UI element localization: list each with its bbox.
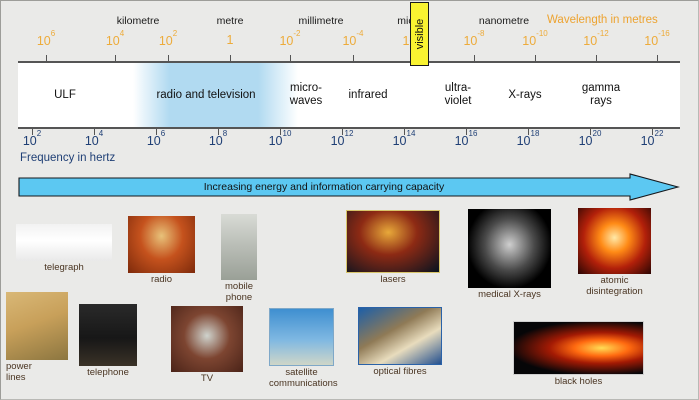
axis-tick-1 xyxy=(115,55,116,62)
wavelength-unit-kilometre: kilometre xyxy=(117,15,160,27)
frequency-tick-5: 1012 xyxy=(331,133,354,148)
figure-caption-lasers: lasers xyxy=(346,275,440,286)
spectrum-band-bar: ULFradio and televisionmicro- wavesinfra… xyxy=(18,62,680,128)
atomic-image xyxy=(578,208,651,274)
power-lines-image xyxy=(6,292,68,360)
wavelength-tick-10: 10-16 xyxy=(644,33,669,48)
frequency-tick-4: 1010 xyxy=(269,133,292,148)
figure-tv: TV xyxy=(171,306,243,385)
frequency-tick-6: 1014 xyxy=(393,133,416,148)
frequency-axis-title: Frequency in hertz xyxy=(20,152,115,164)
figure-telegraph: telegraph xyxy=(16,224,112,274)
wavelength-unit-metre: metre xyxy=(217,15,244,27)
wavelength-tick-1: 104 xyxy=(106,33,124,48)
lasers-image xyxy=(346,210,440,273)
figure-atomic-disintegration: atomic disintegration xyxy=(578,208,651,297)
mobile-phone-image xyxy=(221,214,257,280)
electromagnetic-spectrum-figure: kilometremetremillimetremicronnanometre … xyxy=(0,0,699,400)
energy-arrow: Increasing energy and information carryi… xyxy=(18,173,680,201)
figure-caption-telephone: telephone xyxy=(79,368,137,379)
figure-medical-x-rays: medical X-rays xyxy=(468,209,551,301)
wavelength-tick-7: 10-8 xyxy=(463,33,484,48)
figure-optical-fibres: optical fibres xyxy=(358,307,442,378)
black-hole-image xyxy=(513,321,644,375)
figure-caption-medical-x-rays: medical X-rays xyxy=(468,290,551,301)
wavelength-tick-5: 10-4 xyxy=(342,33,363,48)
band-label-ULF: ULF xyxy=(0,63,130,127)
wavelength-tick-8: 10-10 xyxy=(522,33,547,48)
frequency-tick-3: 108 xyxy=(209,133,227,148)
figure-caption-atomic-disintegration: atomic disintegration xyxy=(578,276,651,297)
telephone-image xyxy=(79,304,137,366)
wavelength-unit-nanometre: nanometre xyxy=(479,15,529,27)
wavelength-unit-millimetre: millimetre xyxy=(299,15,344,27)
wavelength-tick-3: 1 xyxy=(227,33,234,47)
energy-arrow-label: Increasing energy and information carryi… xyxy=(18,173,630,201)
figure-caption-mobile-phone: mobile phone xyxy=(221,282,257,303)
wavelength-tick-2: 102 xyxy=(159,33,177,48)
xray-image xyxy=(468,209,551,288)
figure-caption-tv: TV xyxy=(171,374,243,385)
axis-tick-3 xyxy=(230,55,231,62)
axis-tick-10 xyxy=(657,55,658,62)
axis-tick-4 xyxy=(290,55,291,62)
figure-mobile-phone: mobile phone xyxy=(221,214,257,303)
figure-black-holes: black holes xyxy=(513,321,644,388)
figure-lasers: lasers xyxy=(346,210,440,286)
figure-radio: radio xyxy=(128,216,195,286)
figure-satellite-communications: satellite communications xyxy=(269,308,334,389)
figure-power-lines: power lines xyxy=(6,292,68,383)
wavelength-tick-0: 106 xyxy=(37,33,55,48)
figure-caption-black-holes: black holes xyxy=(513,377,644,388)
frequency-tick-7: 1016 xyxy=(455,133,478,148)
radio-image xyxy=(128,216,195,273)
frequency-tick-2: 106 xyxy=(147,133,165,148)
figure-caption-optical-fibres: optical fibres xyxy=(358,367,442,378)
fibres-image xyxy=(358,307,442,365)
axis-tick-7 xyxy=(474,55,475,62)
frequency-tick-10: 1022 xyxy=(641,133,664,148)
axis-tick-5 xyxy=(353,55,354,62)
axis-tick-0 xyxy=(46,55,47,62)
figure-telephone: telephone xyxy=(79,304,137,379)
band-label-gamma-rays: gamma rays xyxy=(536,63,666,127)
figure-caption-telegraph: telegraph xyxy=(16,263,112,274)
figure-caption-power-lines: power lines xyxy=(6,362,68,383)
frequency-tick-9: 1020 xyxy=(579,133,602,148)
frequency-tick-8: 1018 xyxy=(517,133,540,148)
frequency-tick-1: 104 xyxy=(85,133,103,148)
frequency-tick-0: 102 xyxy=(23,133,41,148)
visible-light-band: visible xyxy=(410,2,429,66)
tv-image xyxy=(171,306,243,372)
axis-tick-9 xyxy=(596,55,597,62)
wavelength-tick-9: 10-12 xyxy=(583,33,608,48)
axis-tick-8 xyxy=(535,55,536,62)
figure-caption-satellite-communications: satellite communications xyxy=(269,368,334,389)
figure-caption-radio: radio xyxy=(128,275,195,286)
visible-light-label: visible xyxy=(414,19,426,50)
wavelength-tick-4: 10-2 xyxy=(279,33,300,48)
telegraph-image xyxy=(16,224,112,261)
wavelength-axis-title: Wavelength in metres xyxy=(547,14,658,26)
axis-tick-2 xyxy=(168,55,169,62)
satellite-image xyxy=(269,308,334,366)
